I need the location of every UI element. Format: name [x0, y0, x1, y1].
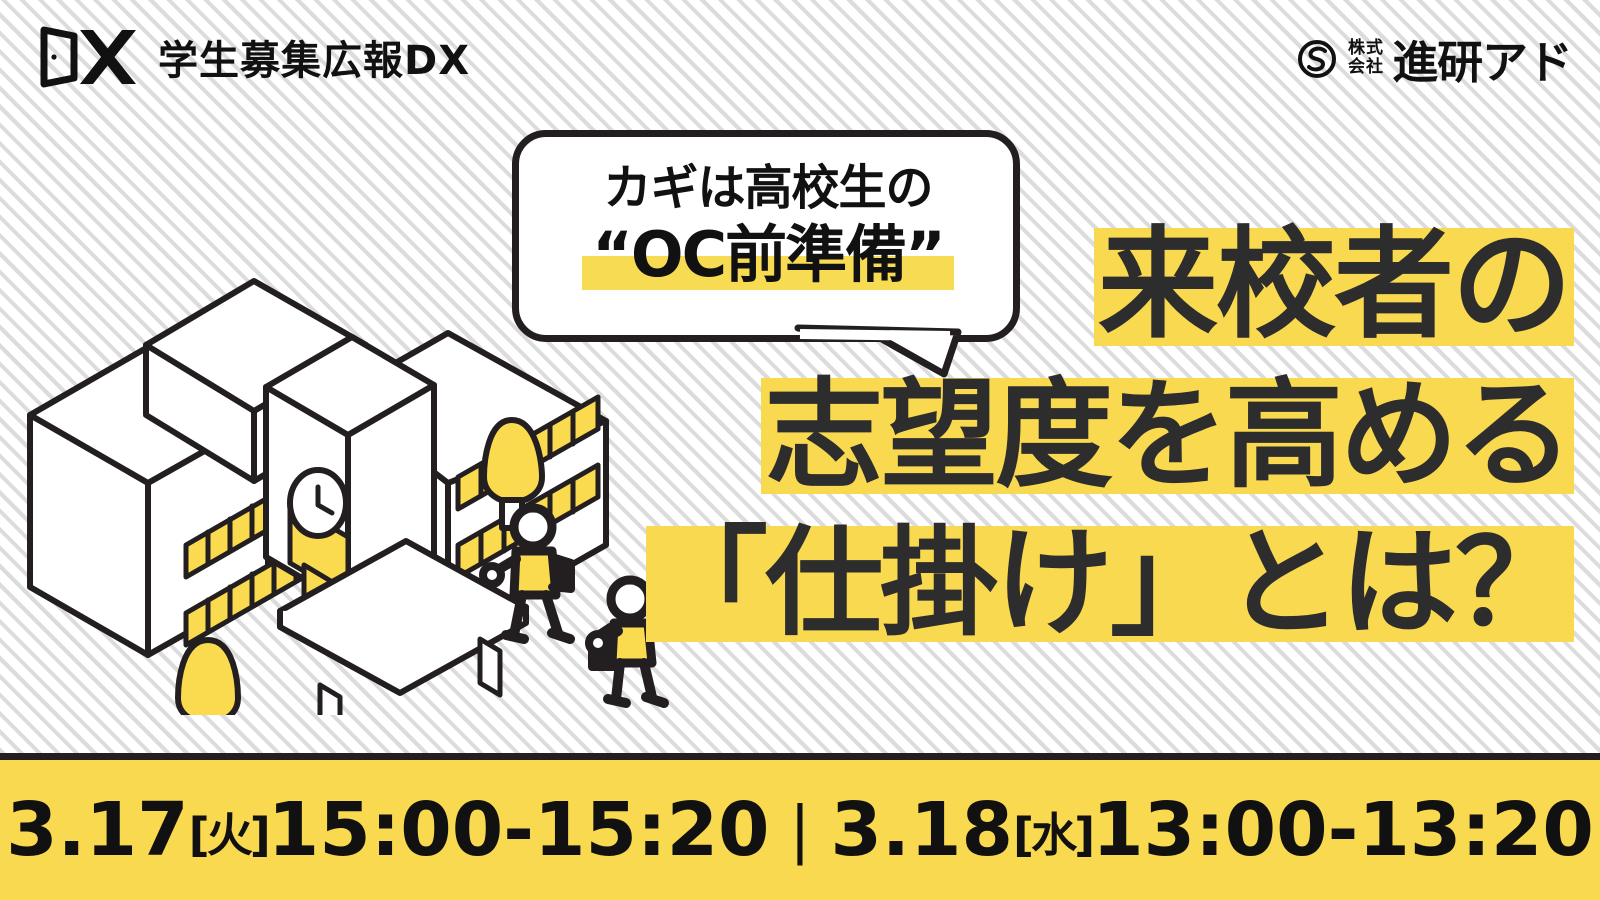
company-prefix-line2: 会社	[1348, 59, 1384, 77]
date-bar: 3.17 [火] 15:00-15:20 | 3.18 [水] 13:00-13…	[0, 760, 1600, 900]
session2-dow: [水]	[1013, 799, 1092, 865]
speech-bubble-line2-wrap: “OC前準備”	[498, 204, 1038, 294]
header: 学生募集広報DX 株式 会社 進研アド	[0, 0, 1600, 120]
tree-left	[178, 640, 238, 715]
title-line-1: 来校者の	[1096, 222, 1572, 350]
session1-dow-open: [	[189, 808, 207, 862]
session1-time: 15:00-15:20	[268, 787, 770, 873]
session1-date: 3.17	[6, 787, 189, 873]
session2-dow-close: ]	[1074, 808, 1092, 862]
session2-dow-char: 水	[1031, 808, 1074, 862]
title-line-2: 志望度を高める	[763, 372, 1572, 498]
session2-dow-open: [	[1013, 808, 1031, 862]
brand-left: 学生募集広報DX	[40, 26, 470, 88]
brand-left-label: 学生募集広報DX	[158, 28, 470, 86]
clock-face	[290, 470, 346, 536]
date-separator: |	[770, 793, 831, 866]
webinar-banner: 学生募集広報DX 株式 会社 進研アド	[0, 0, 1600, 900]
session2-time: 13:00-13:20	[1092, 787, 1594, 873]
s-circle-logo-icon	[1296, 38, 1338, 80]
title-line-1-text: 来校者の	[1096, 222, 1572, 350]
company-prefix: 株式 会社	[1348, 40, 1384, 77]
session1-dow-char: 火	[207, 808, 250, 862]
session1-dow: [火]	[189, 799, 268, 865]
company-name: 進研アド	[1392, 26, 1572, 91]
horizontal-divider	[0, 753, 1600, 760]
speech-bubble: カギは高校生の “OC前準備”	[498, 122, 1038, 382]
company-prefix-line1: 株式	[1348, 40, 1384, 58]
speech-bubble-line2-text: “OC前準備”	[592, 218, 944, 291]
session2-date: 3.18	[830, 787, 1013, 873]
dx-door-logo-icon	[40, 26, 140, 88]
title-line-3-text: 「仕掛け」とは？	[648, 520, 1572, 646]
date-text: 3.17 [火] 15:00-15:20 | 3.18 [水] 13:00-13…	[6, 787, 1594, 873]
session1-dow-close: ]	[250, 808, 268, 862]
title-line-2-text: 志望度を高める	[763, 372, 1572, 498]
brand-right: 株式 会社 進研アド	[1296, 26, 1570, 91]
title-line-3: 「仕掛け」とは？	[648, 520, 1572, 646]
speech-bubble-line2: “OC前準備”	[588, 204, 948, 294]
